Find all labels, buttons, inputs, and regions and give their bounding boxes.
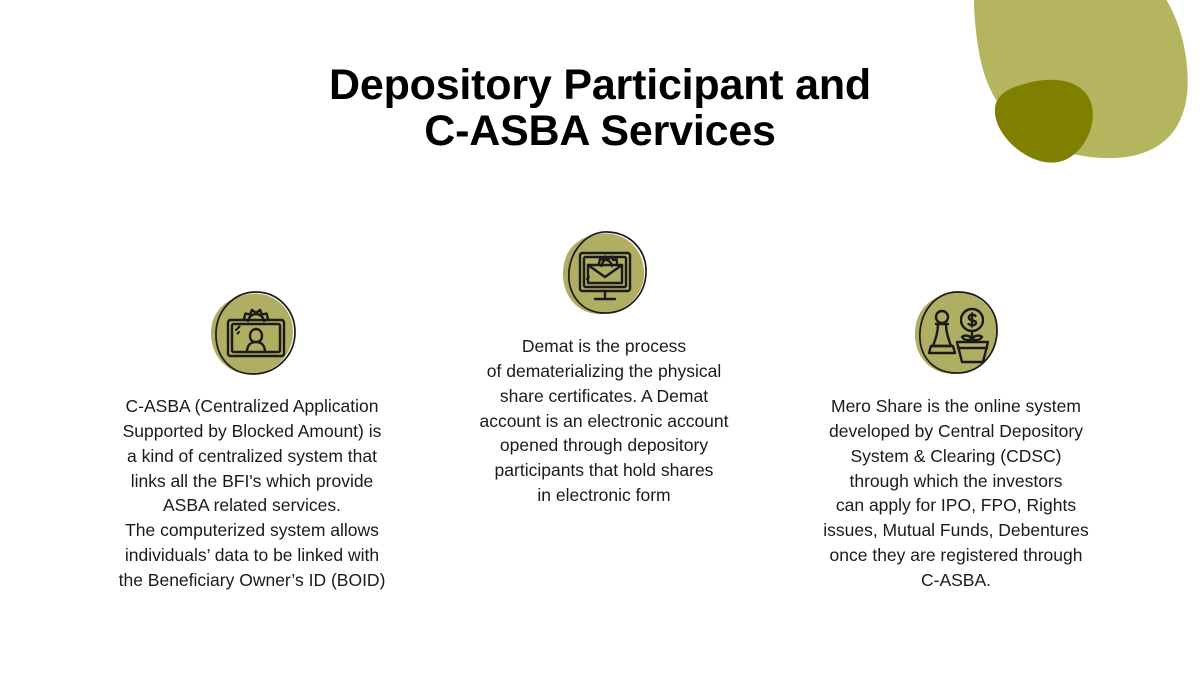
column-1-text: C-ASBA (Centralized Application Supporte…: [87, 394, 417, 593]
content-column-2: Demat is the process of dematerializing …: [424, 228, 784, 508]
content-columns: C-ASBA (Centralized Application Supporte…: [0, 0, 1200, 675]
desktop-envelope-gear-icon: [558, 228, 650, 320]
column-3-text: Mero Share is the online system develope…: [791, 394, 1121, 593]
icon-blob-fill-2: [563, 233, 644, 314]
slide-canvas: Depository Participant and C-ASBA Servic…: [0, 0, 1200, 675]
content-column-1: C-ASBA (Centralized Application Supporte…: [72, 288, 432, 593]
content-column-3: Mero Share is the online system develope…: [776, 288, 1136, 593]
monitor-user-gear-icon: [206, 288, 298, 380]
chess-pawn-money-plant-icon: [910, 288, 1002, 380]
column-2-text: Demat is the process of dematerializing …: [439, 334, 769, 508]
